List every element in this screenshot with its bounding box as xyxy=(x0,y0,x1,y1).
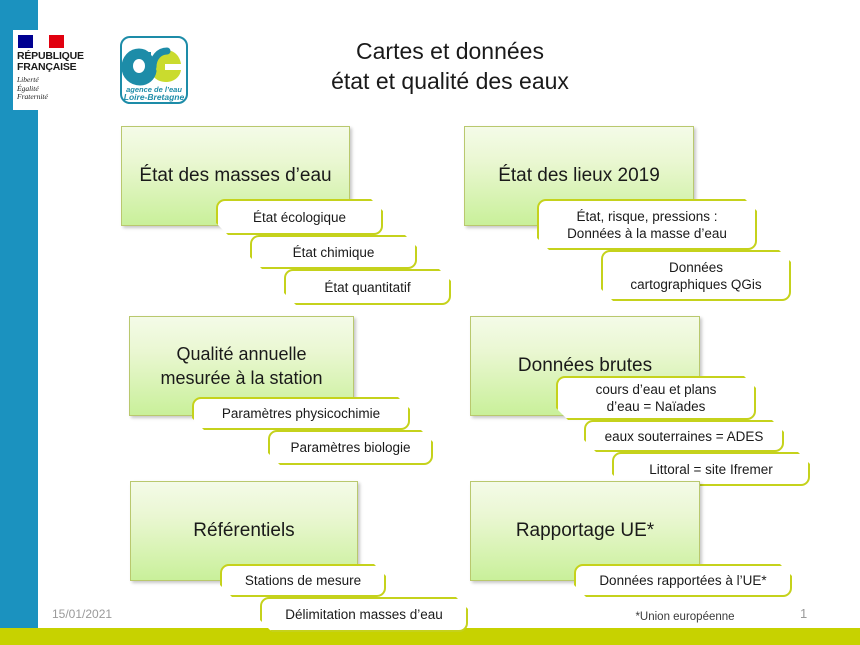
slide-canvas: RÉPUBLIQUE FRANÇAISE Liberté Égalité Fra… xyxy=(0,0,860,645)
item-label: Délimitation masses d’eau xyxy=(270,606,458,623)
item-label: Données cartographiques QGis xyxy=(611,259,781,293)
item-label: Paramètres physicochimie xyxy=(202,405,400,422)
group-heading-label: Référentiels xyxy=(141,519,347,543)
item-donnees-rapportees-a-lue[interactable]: Données rapportées à l’UE* xyxy=(574,564,792,597)
group-heading-label: État des lieux 2019 xyxy=(475,164,683,188)
item-etat-quantitatif[interactable]: État quantitatif xyxy=(284,269,451,305)
group-heading-label: Qualité annuelle mesurée à la station xyxy=(140,342,343,390)
item-label: État, risque, pressions : Données à la m… xyxy=(547,208,747,242)
group-heading-label: Données brutes xyxy=(481,354,689,378)
footer-date: 15/01/2021 xyxy=(52,607,112,621)
republique-line2: FRANÇAISE xyxy=(17,62,81,73)
item-donnees-cartographiques-qgis[interactable]: Données cartographiques QGis xyxy=(601,250,791,301)
item-etat-ecologique[interactable]: État écologique xyxy=(216,199,383,235)
item-etat-risque-pressions[interactable]: État, risque, pressions : Données à la m… xyxy=(537,199,757,250)
item-label: État chimique xyxy=(260,244,407,261)
group-heading-label: État des masses d’eau xyxy=(132,164,339,188)
item-label: État écologique xyxy=(226,209,373,226)
slide-title: Cartes et données état et qualité des ea… xyxy=(230,36,670,96)
item-eaux-souterraines-ades[interactable]: eaux souterraines = ADES xyxy=(584,420,784,452)
agence-eau-loire-bretagne-logo: agence de l’eau Loire-Bretagne xyxy=(120,36,188,106)
item-label: Littoral = site Ifremer xyxy=(622,461,800,478)
footer-page-number: 1 xyxy=(800,606,807,621)
item-label: Données rapportées à l’UE* xyxy=(584,572,782,589)
item-label: eaux souterraines = ADES xyxy=(594,428,774,445)
item-label: État quantitatif xyxy=(294,279,441,296)
republique-francaise-logo: RÉPUBLIQUE FRANÇAISE Liberté Égalité Fra… xyxy=(13,30,85,110)
item-etat-chimique[interactable]: État chimique xyxy=(250,235,417,269)
item-label: Paramètres biologie xyxy=(278,439,423,456)
item-stations-de-mesure[interactable]: Stations de mesure xyxy=(220,564,386,597)
footer-footnote: *Union européenne xyxy=(570,611,800,623)
item-delimitation-masses-deau[interactable]: Délimitation masses d’eau xyxy=(260,597,468,632)
agence-eau-mark-icon: agence de l’eau Loire-Bretagne xyxy=(120,36,188,106)
item-label: cours d’eau et plans d’eau = Naïades xyxy=(566,381,746,415)
item-label: Stations de mesure xyxy=(230,572,376,589)
item-cours-deau-et-plans-deau-naiades[interactable]: cours d’eau et plans d’eau = Naïades xyxy=(556,376,756,420)
agence-logo-text-line2: Loire-Bretagne xyxy=(124,92,185,102)
slide-title-line2: état et qualité des eaux xyxy=(230,66,670,96)
group-heading-label: Rapportage UE* xyxy=(481,519,689,543)
republique-motto-fraternite: Fraternité xyxy=(17,93,81,102)
french-flag-icon xyxy=(18,35,64,48)
item-parametres-physicochimie[interactable]: Paramètres physicochimie xyxy=(192,397,410,430)
slide-title-line1: Cartes et données xyxy=(230,36,670,66)
item-parametres-biologie[interactable]: Paramètres biologie xyxy=(268,430,433,465)
